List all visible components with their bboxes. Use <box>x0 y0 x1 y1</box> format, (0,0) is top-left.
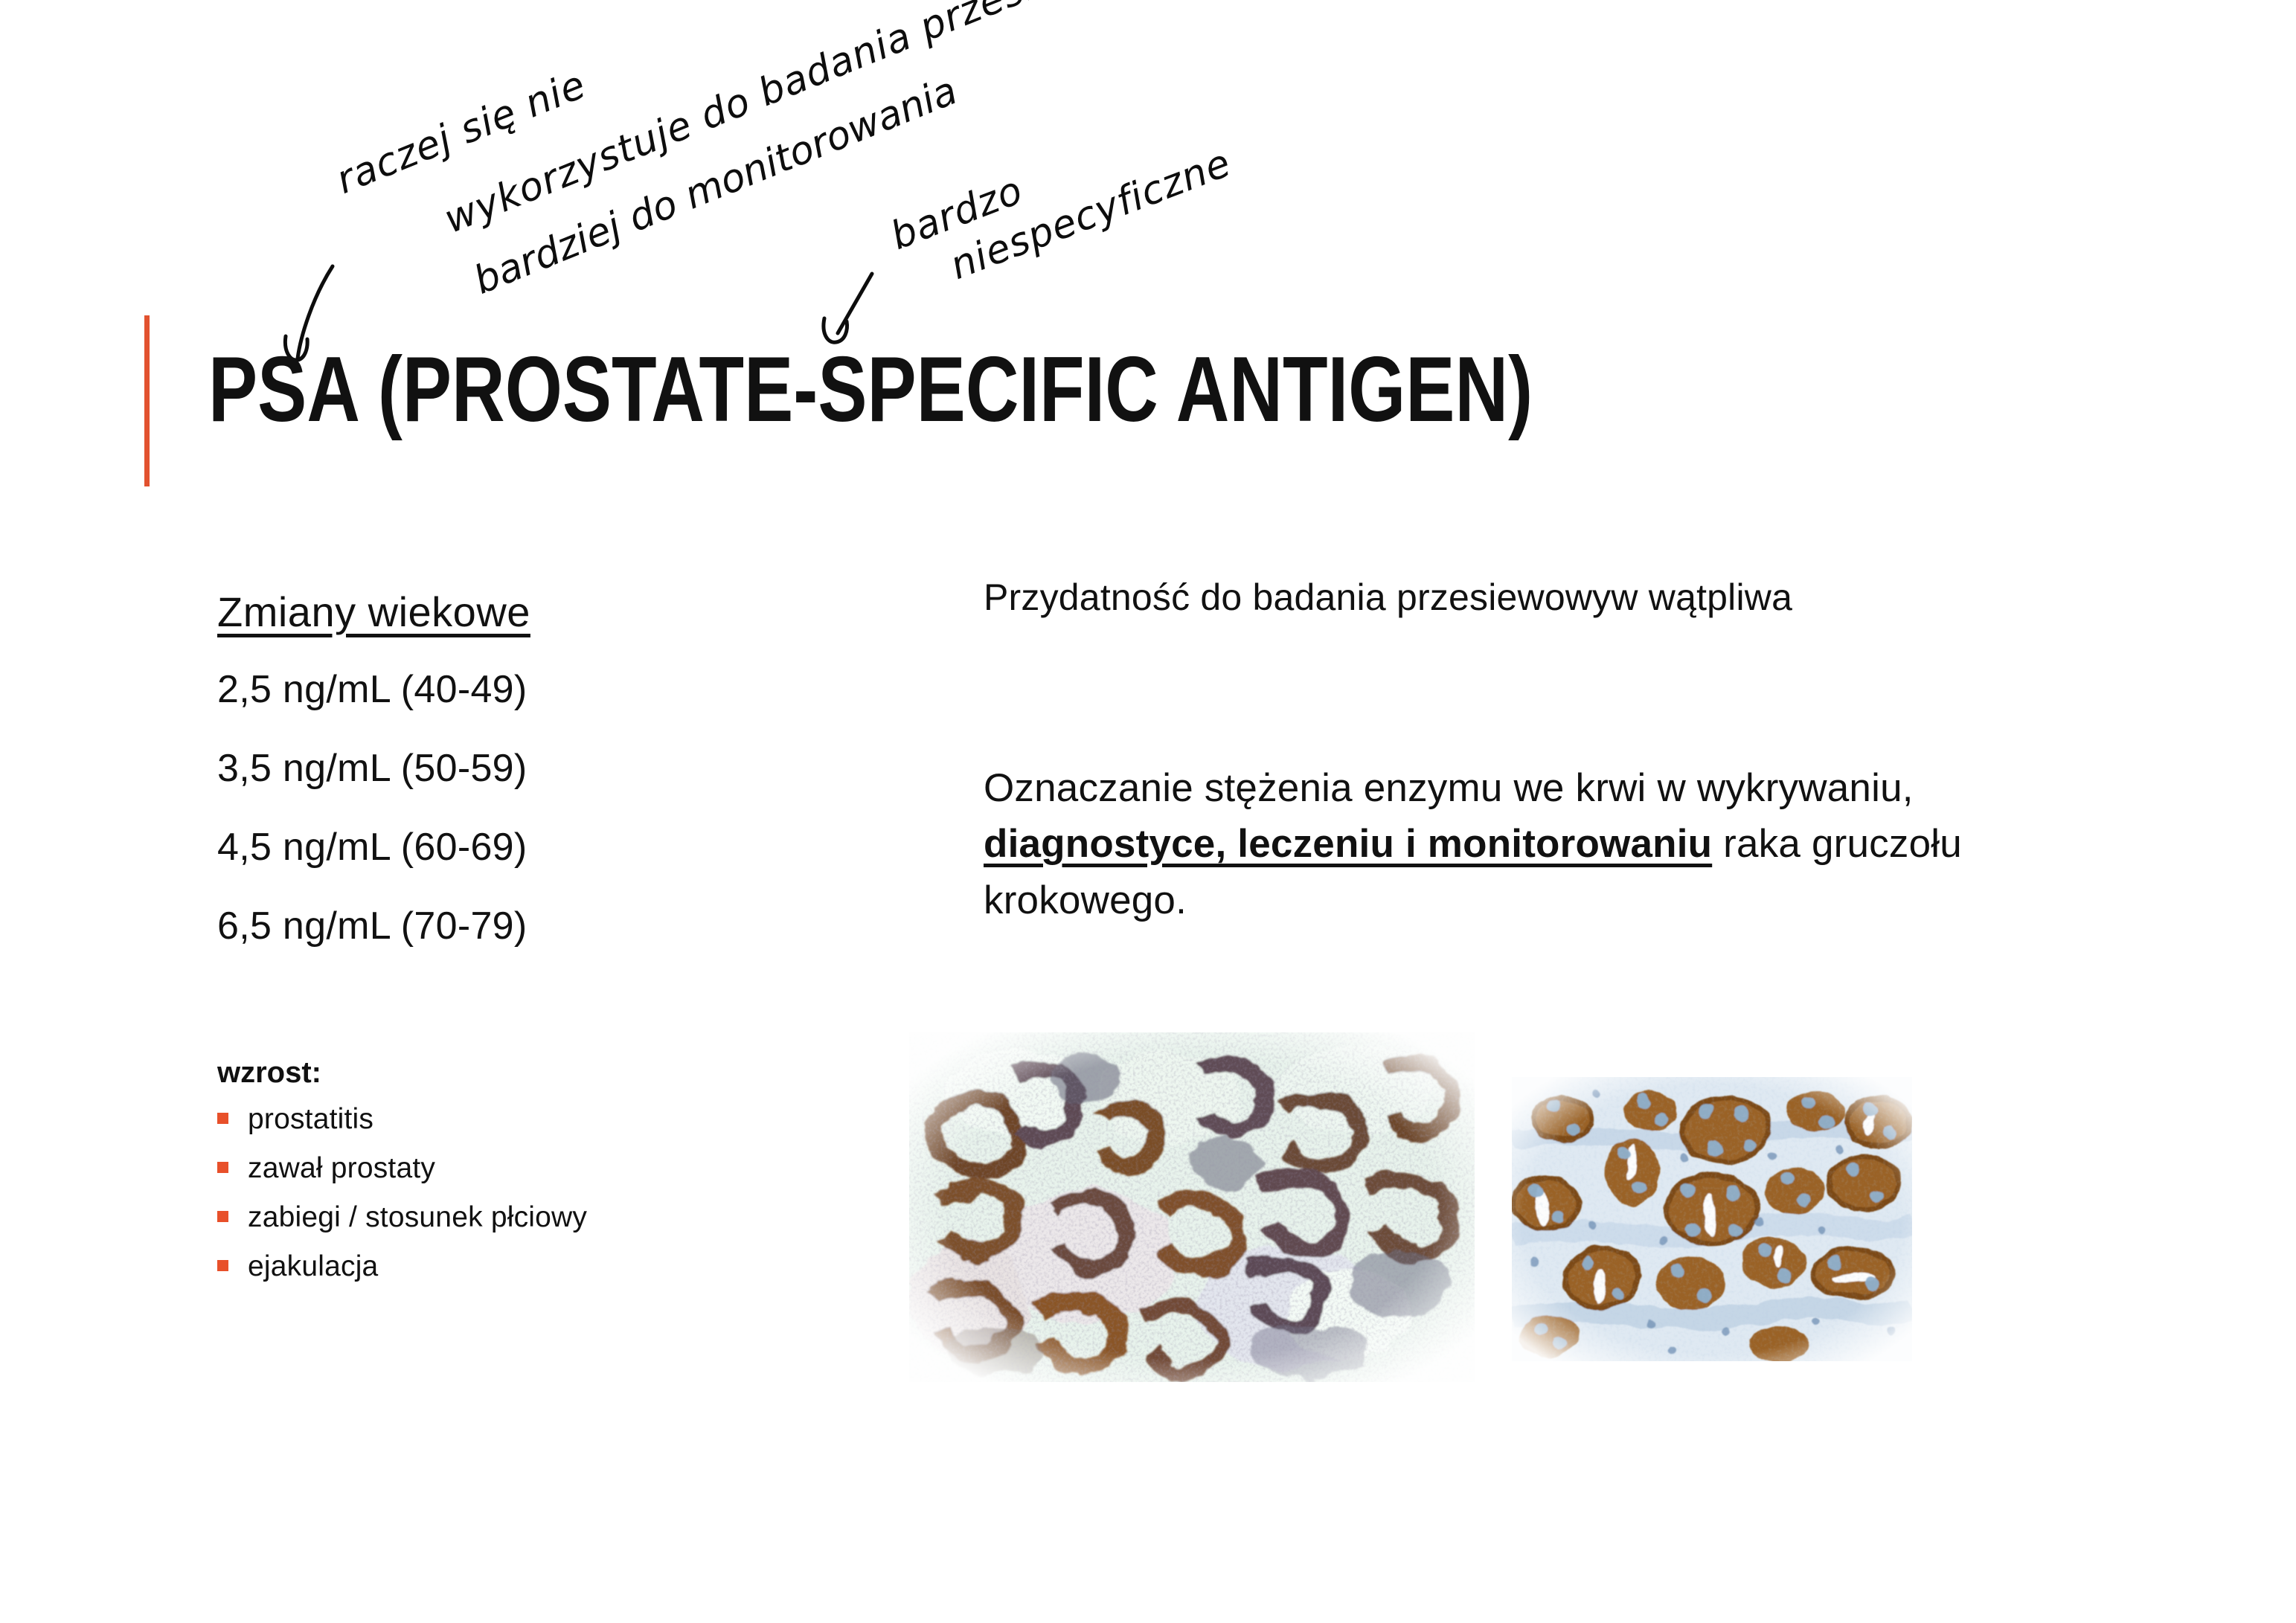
straight-down-arrow-shaft <box>838 274 872 333</box>
list-item: zabiegi / stosunek płciowy <box>217 1201 783 1234</box>
square-bullet-icon <box>217 1162 228 1173</box>
annotation-right-line1: bardzo <box>885 168 1029 259</box>
psa-value-row: 2,5 ng/mL (40-49) <box>217 667 753 712</box>
micrograph-right-render <box>1512 1077 1912 1361</box>
screening-note-text: Przydatność do badania przesiewowyw wątp… <box>984 574 2040 621</box>
age-reference-heading: Zmiany wiekowe <box>217 588 753 636</box>
elevation-causes-block: wzrost: prostatitis zawał prostaty zabie… <box>217 1056 783 1299</box>
list-item: ejakulacja <box>217 1250 783 1283</box>
clinical-use-emphasis: diagnostyce, leczeniu i monitorowaniu <box>984 822 1712 866</box>
list-item-label: zawał prostaty <box>248 1152 435 1185</box>
screening-note-block: Przydatność do badania przesiewowyw wątp… <box>984 574 2040 621</box>
clinical-use-paragraph: Oznaczanie stężenia enzymu we krwi w wyk… <box>984 760 1981 928</box>
slide-canvas: raczej się nie wykorzystuje do badania p… <box>0 0 2296 1623</box>
annotation-left-line3: bardziej do monitorowania <box>468 68 963 303</box>
list-item-label: zabiegi / stosunek płciowy <box>248 1201 587 1234</box>
square-bullet-icon <box>217 1211 228 1222</box>
prostate-ihc-micrograph-right <box>1512 1077 1912 1361</box>
annotation-left-line1: raczej się nie <box>330 62 592 203</box>
list-item-label: ejakulacja <box>248 1250 378 1283</box>
psa-value-row: 4,5 ng/mL (60-69) <box>217 825 753 870</box>
micrograph-left-render <box>909 1032 1475 1382</box>
list-item: prostatitis <box>217 1103 783 1136</box>
psa-value-row: 6,5 ng/mL (70-79) <box>217 904 753 948</box>
annotation-right-line2: niespecyficzne <box>944 141 1237 289</box>
prostate-ihc-micrograph-left <box>909 1032 1475 1382</box>
page-title: PSA (PROSTATE-SPECIFIC ANTIGEN) <box>208 344 1533 436</box>
square-bullet-icon <box>217 1260 228 1271</box>
age-reference-column: Zmiany wiekowe 2,5 ng/mL (40-49) 3,5 ng/… <box>217 588 753 983</box>
title-accent-bar <box>144 315 150 486</box>
list-item-label: prostatitis <box>248 1103 373 1136</box>
psa-value-row: 3,5 ng/mL (50-59) <box>217 746 753 791</box>
list-item: zawał prostaty <box>217 1152 783 1185</box>
elevation-causes-heading: wzrost: <box>217 1056 783 1090</box>
clinical-use-part1: Oznaczanie stężenia enzymu we krwi w wyk… <box>984 766 1914 810</box>
square-bullet-icon <box>217 1113 228 1124</box>
